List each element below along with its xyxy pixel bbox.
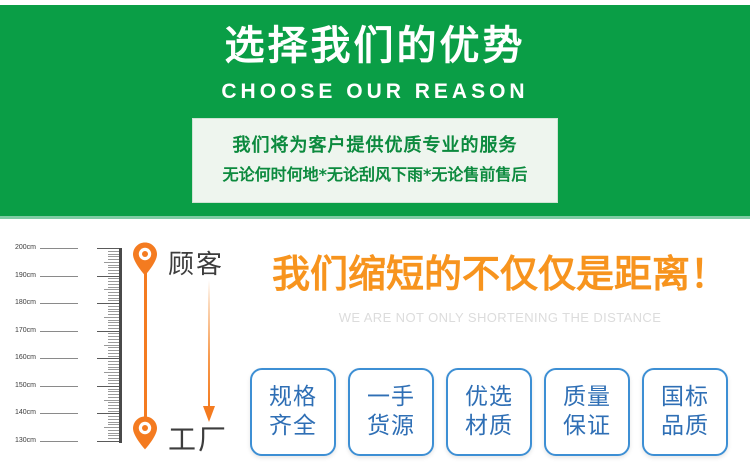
ruler-label-leader — [40, 276, 78, 277]
ruler-tick — [108, 364, 119, 365]
ruler-tick — [108, 419, 119, 420]
ruler-label-leader — [40, 413, 78, 414]
ruler-label: 140cm — [2, 409, 36, 416]
ruler-tick — [108, 342, 119, 343]
feature-badge-line-1: 质量 — [563, 383, 611, 412]
ruler-tick — [104, 345, 119, 346]
ruler-tick — [104, 372, 119, 373]
ruler-tick — [108, 300, 119, 301]
feature-badge-line-1: 优选 — [465, 383, 513, 412]
headline-chinese: 我们缩短的不仅仅是距离！ — [255, 250, 745, 298]
ruler-tick — [104, 317, 119, 318]
ruler-tick — [108, 267, 119, 268]
ruler-tick — [108, 394, 119, 395]
ruler-tick — [108, 320, 119, 321]
ruler-label: 200cm — [2, 244, 36, 251]
ruler-tick — [108, 328, 119, 329]
ruler-tick — [108, 435, 119, 436]
map-pin-icon-factory — [132, 416, 158, 450]
ruler-tick — [108, 306, 119, 307]
ruler-tick — [108, 405, 119, 406]
feature-badge-line-2: 货源 — [367, 412, 415, 441]
map-pin-icon-customer — [132, 242, 158, 276]
feature-badges: 规格齐全一手货源优选材质质量保证国标品质 — [250, 368, 748, 460]
feature-badge-line-2: 材质 — [465, 412, 513, 441]
ruler-tick — [108, 424, 119, 425]
ruler-label-leader — [40, 331, 78, 332]
ruler-tick — [108, 295, 119, 296]
ruler-tick — [108, 389, 119, 390]
ruler-tick — [108, 430, 119, 431]
ruler-tick — [108, 367, 119, 368]
ruler-tick — [97, 441, 119, 442]
ruler-label: 170cm — [2, 327, 36, 334]
feature-badge-1[interactable]: 规格齐全 — [250, 368, 336, 456]
ruler-label-leader — [40, 386, 78, 387]
promo-banner: 选择我们的优势 CHOOSE OUR REASON 我们将为客户提供优质专业的服… — [0, 0, 750, 466]
feature-badge-4[interactable]: 质量保证 — [544, 368, 630, 456]
ruler-tick — [108, 333, 119, 334]
feature-badge-line-2: 品质 — [661, 412, 709, 441]
ruler-tick — [104, 289, 119, 290]
ruler-tick — [108, 273, 119, 274]
ruler-tick — [108, 284, 119, 285]
ruler-tick — [108, 347, 119, 348]
feature-badge-line-1: 一手 — [367, 383, 415, 412]
ruler-tick — [97, 331, 119, 332]
ruler-tick — [108, 298, 119, 299]
service-promise-line-2: 无论何时何地*无论刮风下雨*无论售前售后 — [223, 162, 528, 188]
ruler-tick — [108, 311, 119, 312]
ruler-tick — [108, 287, 119, 288]
ruler-tick — [108, 411, 119, 412]
ruler-label: 160cm — [2, 354, 36, 361]
ruler-label-leader — [40, 303, 78, 304]
headline-text: 我们缩短的不仅仅是距离！ — [272, 252, 728, 296]
ruler-tick — [108, 251, 119, 252]
header-band-bottom-edge — [0, 216, 750, 219]
ruler-tick — [108, 375, 119, 376]
ruler-tick — [108, 292, 119, 293]
feature-badge-3[interactable]: 优选材质 — [446, 368, 532, 456]
ruler-tick — [97, 358, 119, 359]
service-promise-line-1: 我们将为客户提供优质专业的服务 — [233, 133, 518, 159]
ruler-tick — [104, 427, 119, 428]
ruler-tick — [108, 256, 119, 257]
ruler-tick — [108, 270, 119, 271]
ruler-tick — [108, 416, 119, 417]
ruler-tick — [108, 361, 119, 362]
ruler-tick — [108, 254, 119, 255]
ruler-tick — [108, 438, 119, 439]
feature-badge-5[interactable]: 国标品质 — [642, 368, 728, 456]
ruler-tick — [108, 281, 119, 282]
ruler-tick — [104, 262, 119, 263]
ruler-tick — [108, 350, 119, 351]
ruler-tick — [108, 309, 119, 310]
ruler-tick — [104, 400, 119, 401]
ruler-tick — [108, 339, 119, 340]
ruler-tick — [108, 378, 119, 379]
ruler-tick — [108, 353, 119, 354]
ruler-tick-marks — [97, 248, 119, 443]
ruler-tick — [108, 402, 119, 403]
feature-badge-line-2: 保证 — [563, 412, 611, 441]
ruler-label: 150cm — [2, 382, 36, 389]
ruler-label: 180cm — [2, 299, 36, 306]
ruler-label: 190cm — [2, 272, 36, 279]
feature-badge-line-2: 齐全 — [269, 412, 317, 441]
ruler-tick — [108, 356, 119, 357]
ruler-tick — [108, 380, 119, 381]
ruler-tick — [97, 386, 119, 387]
ruler-spine — [119, 248, 122, 443]
feature-badge-2[interactable]: 一手货源 — [348, 368, 434, 456]
ruler-label-leader — [40, 248, 78, 249]
ruler-label-leader — [40, 358, 78, 359]
page-title: 选择我们的优势 — [0, 20, 750, 72]
page-subtitle-english: CHOOSE OUR REASON — [0, 78, 750, 106]
ruler-tick — [108, 322, 119, 323]
ruler-tick — [108, 325, 119, 326]
ruler-tick — [108, 422, 119, 423]
ruler-tick — [108, 259, 119, 260]
headline-english: WE ARE NOT ONLY SHORTENING THE DISTANCE — [255, 310, 745, 325]
arrow-down-icon — [200, 280, 218, 424]
service-promise-box: 我们将为客户提供优质专业的服务 无论何时何地*无论刮风下雨*无论售前售后 — [192, 118, 558, 203]
ruler-tick — [108, 433, 119, 434]
ruler-tick — [108, 314, 119, 315]
ruler-tick — [108, 336, 119, 337]
ruler-tick — [108, 391, 119, 392]
height-ruler: 200cm190cm180cm170cm160cm150cm140cm130cm — [36, 248, 122, 443]
ruler-tick — [97, 413, 119, 414]
ruler-tick — [108, 369, 119, 370]
ruler-tick — [108, 408, 119, 409]
ruler-tick — [97, 248, 119, 249]
ruler-label: 130cm — [2, 437, 36, 444]
ruler-tick — [108, 397, 119, 398]
ruler-tick — [97, 303, 119, 304]
feature-badge-line-1: 国标 — [661, 383, 709, 412]
ruler-tick — [97, 276, 119, 277]
ruler-label-leader — [40, 441, 78, 442]
ruler-tick — [108, 265, 119, 266]
pin-label-customer: 顾客 — [168, 244, 224, 281]
feature-badge-line-1: 规格 — [269, 383, 317, 412]
ruler-tick — [108, 278, 119, 279]
pin-label-factory: 工厂 — [168, 418, 228, 458]
ruler-tick — [108, 383, 119, 384]
